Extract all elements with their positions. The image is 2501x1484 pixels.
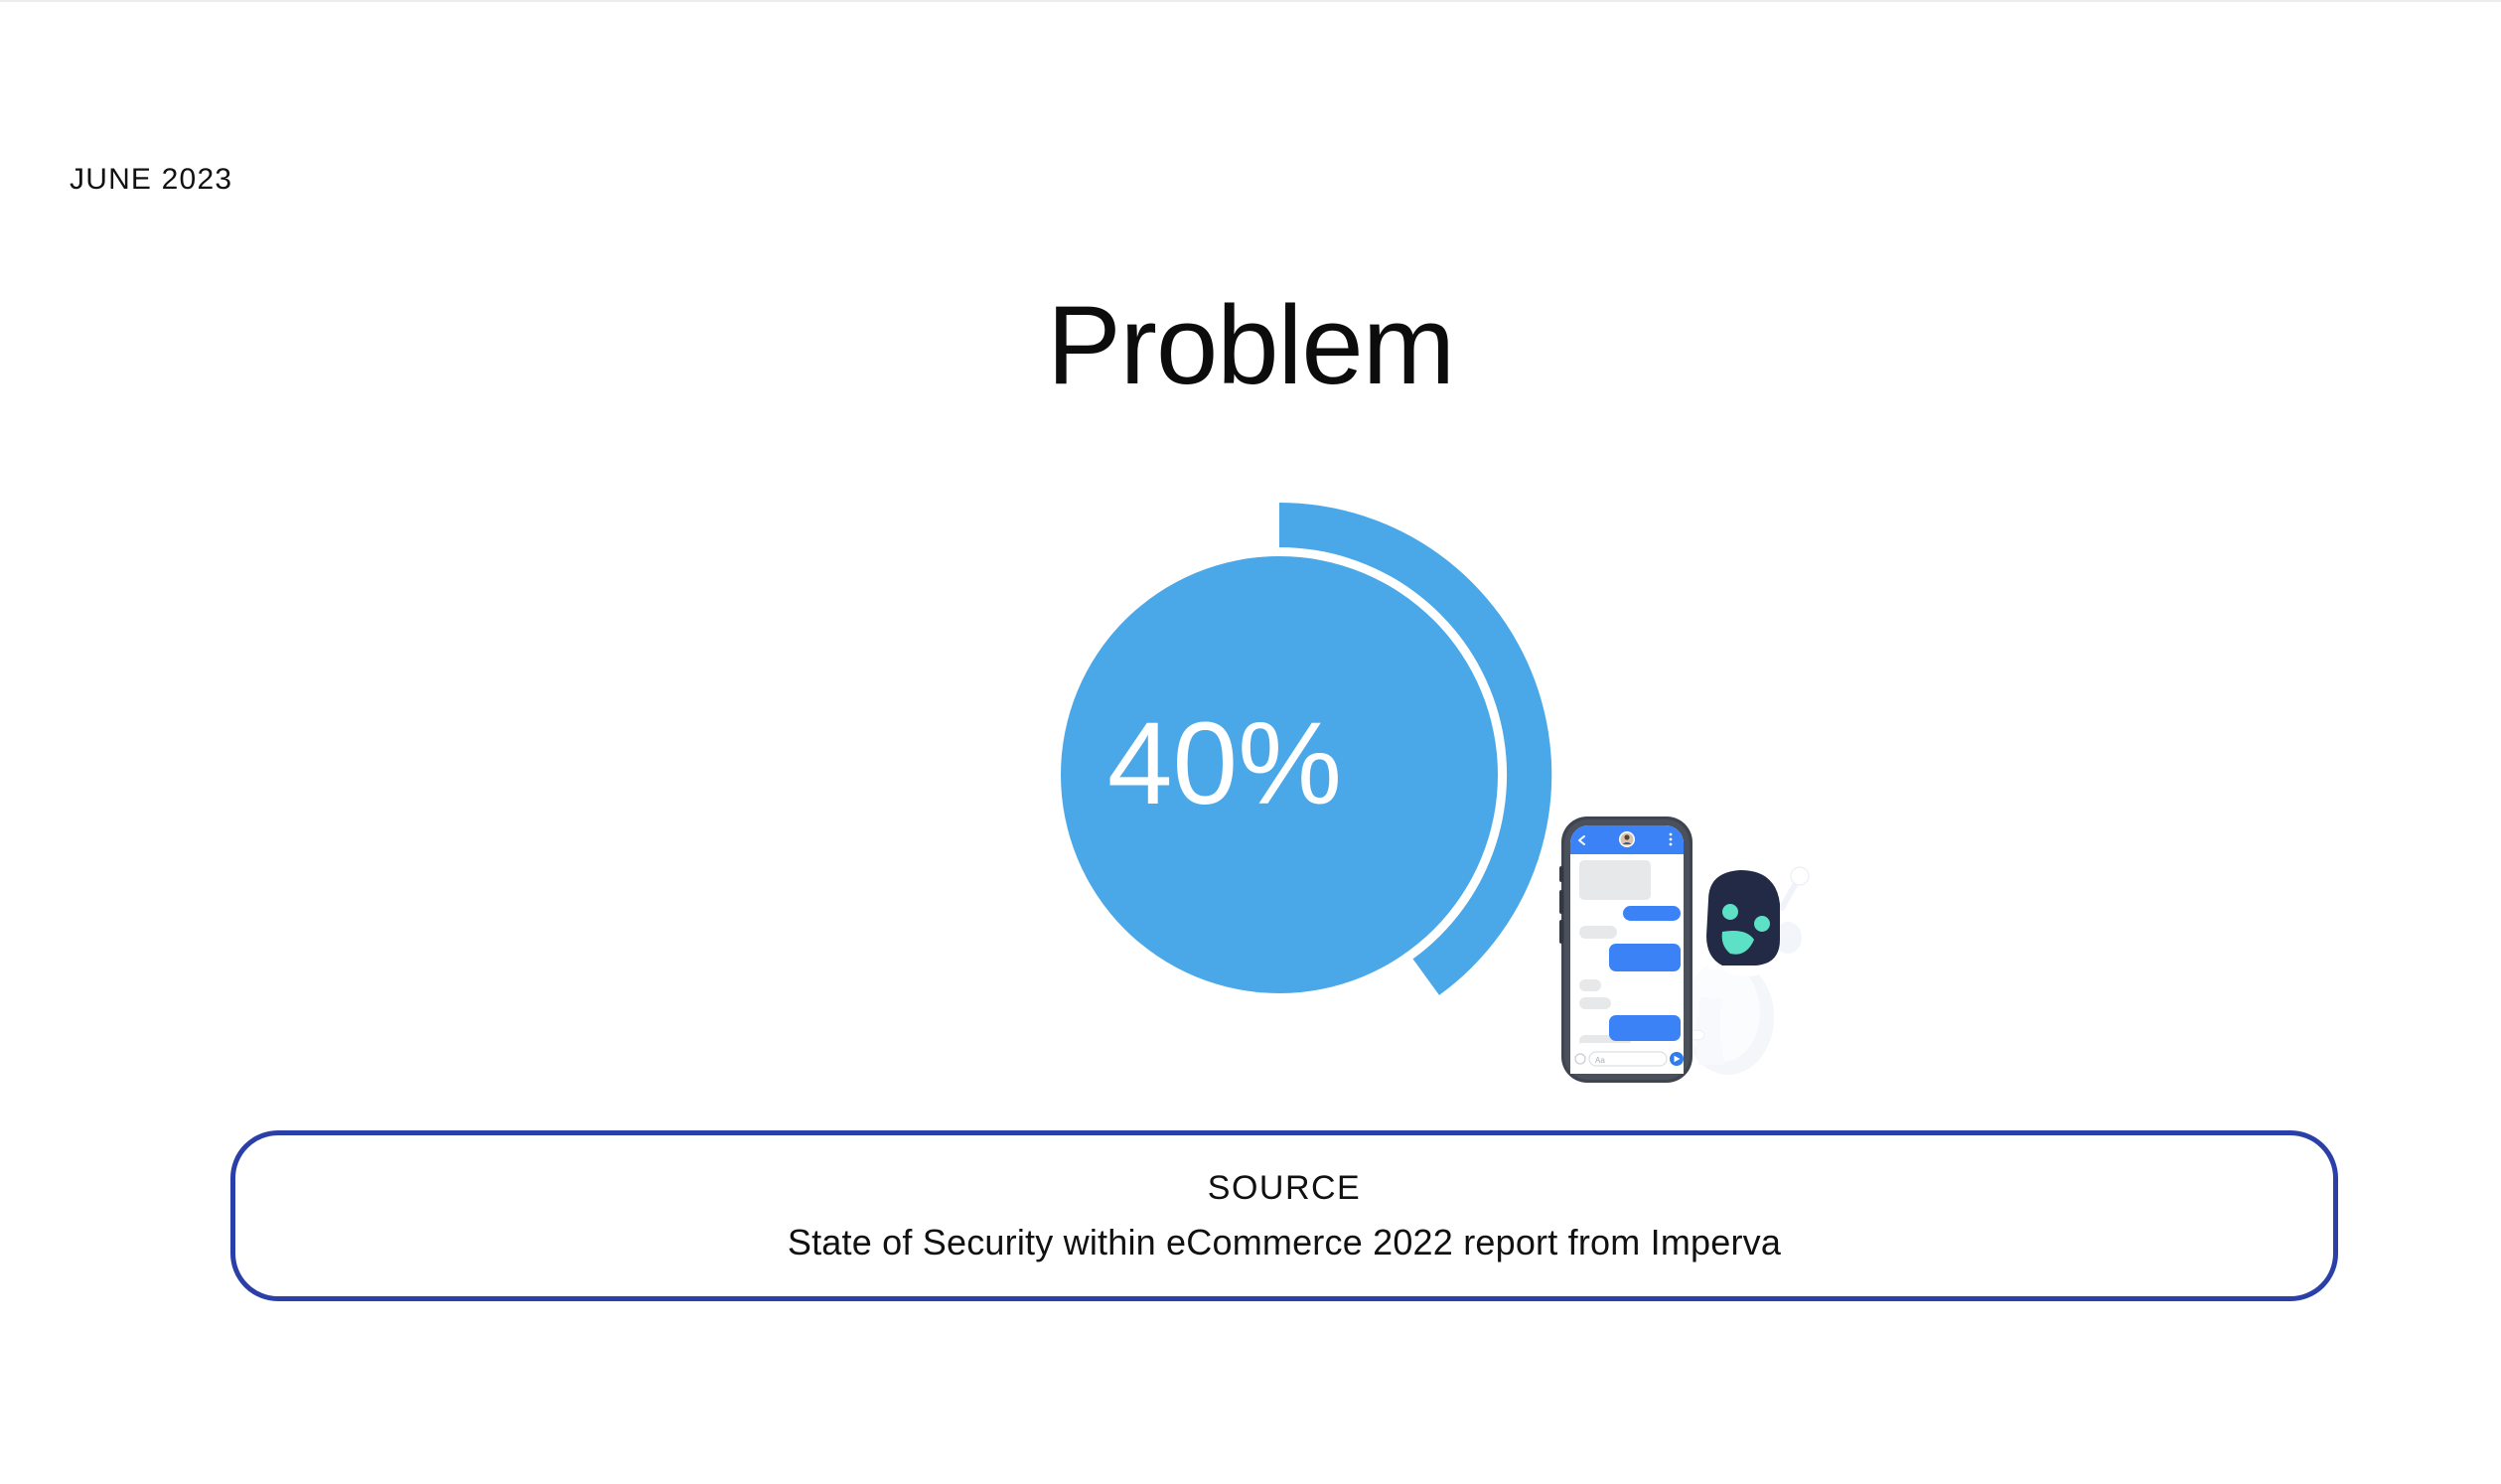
donut-inner-disc	[1061, 556, 1498, 993]
donut-chart-svg	[1001, 489, 1577, 1025]
source-heading: SOURCE	[1208, 1169, 1361, 1208]
chat-bubble-outgoing	[1609, 944, 1681, 971]
chat-bubble-incoming	[1579, 860, 1651, 900]
source-callout: SOURCE State of Security within eCommerc…	[230, 1130, 2338, 1301]
chat-bubble-incoming	[1579, 997, 1611, 1009]
slide-date-label: JUNE 2023	[70, 163, 232, 197]
bot-body	[1683, 960, 1774, 1075]
source-text: State of Security within eCommerce 2022 …	[788, 1222, 1781, 1263]
slide-canvas: JUNE 2023 Problem 40%	[0, 0, 2501, 1484]
phone-mockup: Aa	[1559, 816, 1692, 1083]
avatar[interactable]	[1619, 831, 1635, 847]
send-icon[interactable]	[1670, 1052, 1684, 1066]
donut-chart: 40%	[1001, 489, 1577, 1025]
chatbot-illustration: Aa	[1551, 809, 1869, 1097]
bot-antenna-icon	[1782, 867, 1809, 908]
chatbot-illustration-svg: Aa	[1551, 809, 1869, 1097]
page-title: Problem	[0, 290, 2501, 401]
chat-bubble-outgoing	[1623, 906, 1681, 921]
bot-head	[1696, 867, 1809, 976]
more-options-icon[interactable]	[1670, 833, 1673, 846]
message-input-placeholder: Aa	[1595, 1056, 1605, 1065]
chat-bubble-incoming	[1579, 926, 1617, 939]
chat-bubble-incoming	[1579, 979, 1601, 991]
chat-bubble-outgoing	[1609, 1015, 1681, 1041]
bot-eye-right-icon	[1754, 916, 1770, 932]
bot-eye-left-icon	[1722, 904, 1738, 920]
